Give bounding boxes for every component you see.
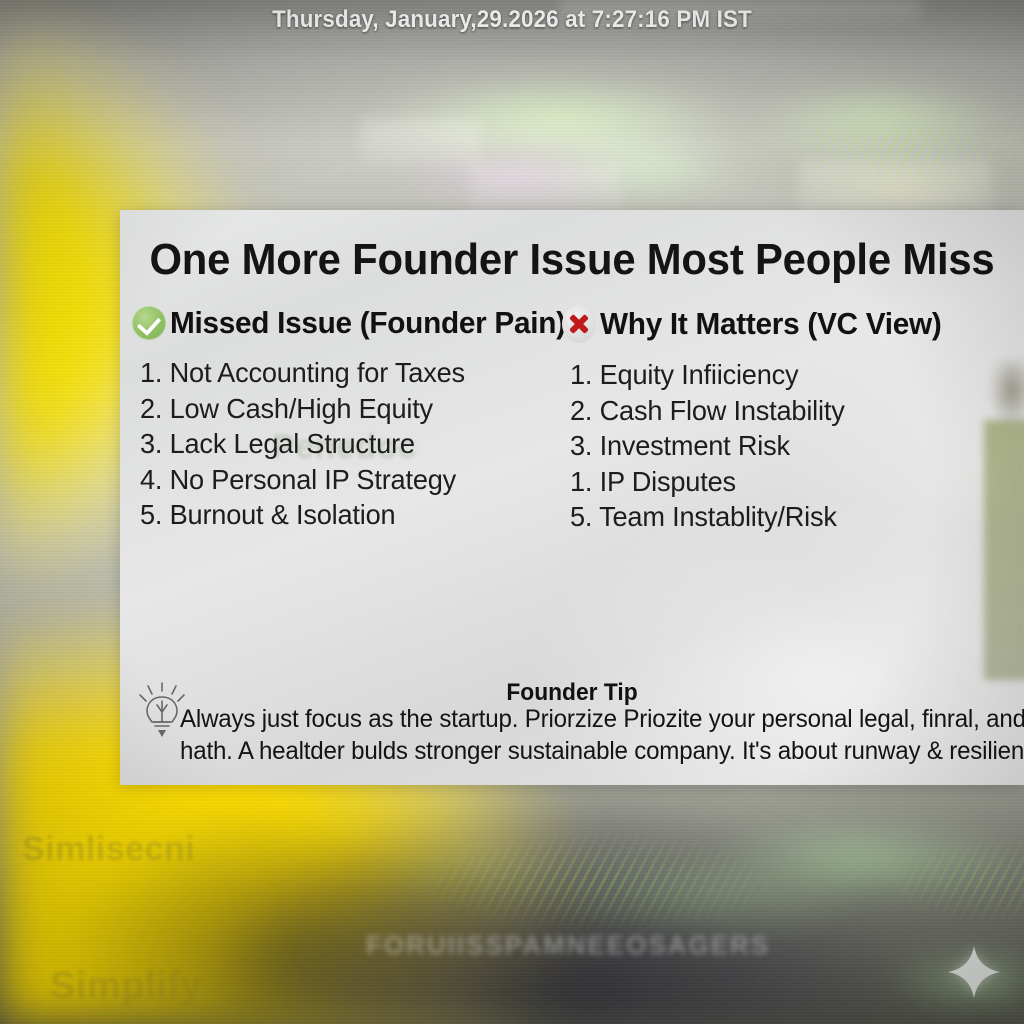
ghost-text-simplify: Simplify	[50, 965, 202, 1008]
list-item: 1. Not Accounting for Taxes	[140, 355, 549, 391]
page-title: One More Founder Issue Most People Miss	[143, 210, 1002, 285]
column-header-why-it-matters: Why It Matters (VC View)	[562, 305, 992, 343]
column-heading-label: Missed Issue (Founder Pain)	[170, 305, 566, 341]
column-header-missed-issue: Missed Issue (Founder Pain)	[132, 305, 562, 341]
content-card: Penedoc One More Founder Issue Most Peop…	[120, 210, 1024, 785]
column-missed-issue: Missed Issue (Founder Pain) 1. Not Accou…	[126, 305, 562, 535]
list-item: 2. Low Cash/High Equity	[140, 391, 549, 427]
timestamp-label: Thursday, January,29.2026 at 7:27:16 PM …	[36, 6, 988, 34]
list-item: 4. No Personal IP Strategy	[140, 462, 549, 498]
list-item: 1. IP Disputes	[570, 464, 979, 500]
sparkle-star-icon	[946, 944, 1002, 1000]
comparison-columns: Missed Issue (Founder Pain) 1. Not Accou…	[120, 305, 1024, 535]
founder-tip-section: Founder Tip Always just focus as the sta…	[120, 677, 1024, 785]
list-item: 5. Team Instablity/Risk	[570, 499, 979, 535]
list-item: 2. Cash Flow Instability	[570, 393, 979, 429]
column-why-it-matters: Why It Matters (VC View) 1. Equity Infii…	[562, 305, 992, 535]
ghost-text-bottom-band: FORUIISSPAMNEEOSAGERS	[366, 930, 770, 961]
list-item: 1. Equity Infiiciency	[570, 357, 979, 393]
founder-tip-body: Always just focus as the startup. Priorz…	[180, 703, 1024, 767]
founder-tip-line-2: hath. A healtder bulds stronger sustaina…	[180, 735, 1024, 767]
list-item: 3. Investment Risk	[570, 428, 979, 464]
ghost-text-simlisecni: Simlisecni	[22, 830, 195, 869]
list-item: 3. Lack Legal Structure	[140, 426, 549, 462]
column-heading-label: Why It Matters (VC View)	[600, 306, 941, 342]
why-it-matters-list: 1. Equity Infiiciency 2. Cash Flow Insta…	[562, 357, 992, 535]
missed-issue-list: 1. Not Accounting for Taxes 2. Low Cash/…	[132, 355, 562, 533]
founder-tip-line-1: Always just focus as the startup. Priorz…	[180, 703, 1024, 735]
red-x-circle-icon	[562, 305, 596, 343]
screenshot-stage: Simlisecni Simplify FORUIISSPAMNEEOSAGER…	[0, 0, 1024, 1024]
green-check-circle-icon	[132, 306, 166, 340]
list-item: 5. Burnout & Isolation	[140, 497, 549, 533]
